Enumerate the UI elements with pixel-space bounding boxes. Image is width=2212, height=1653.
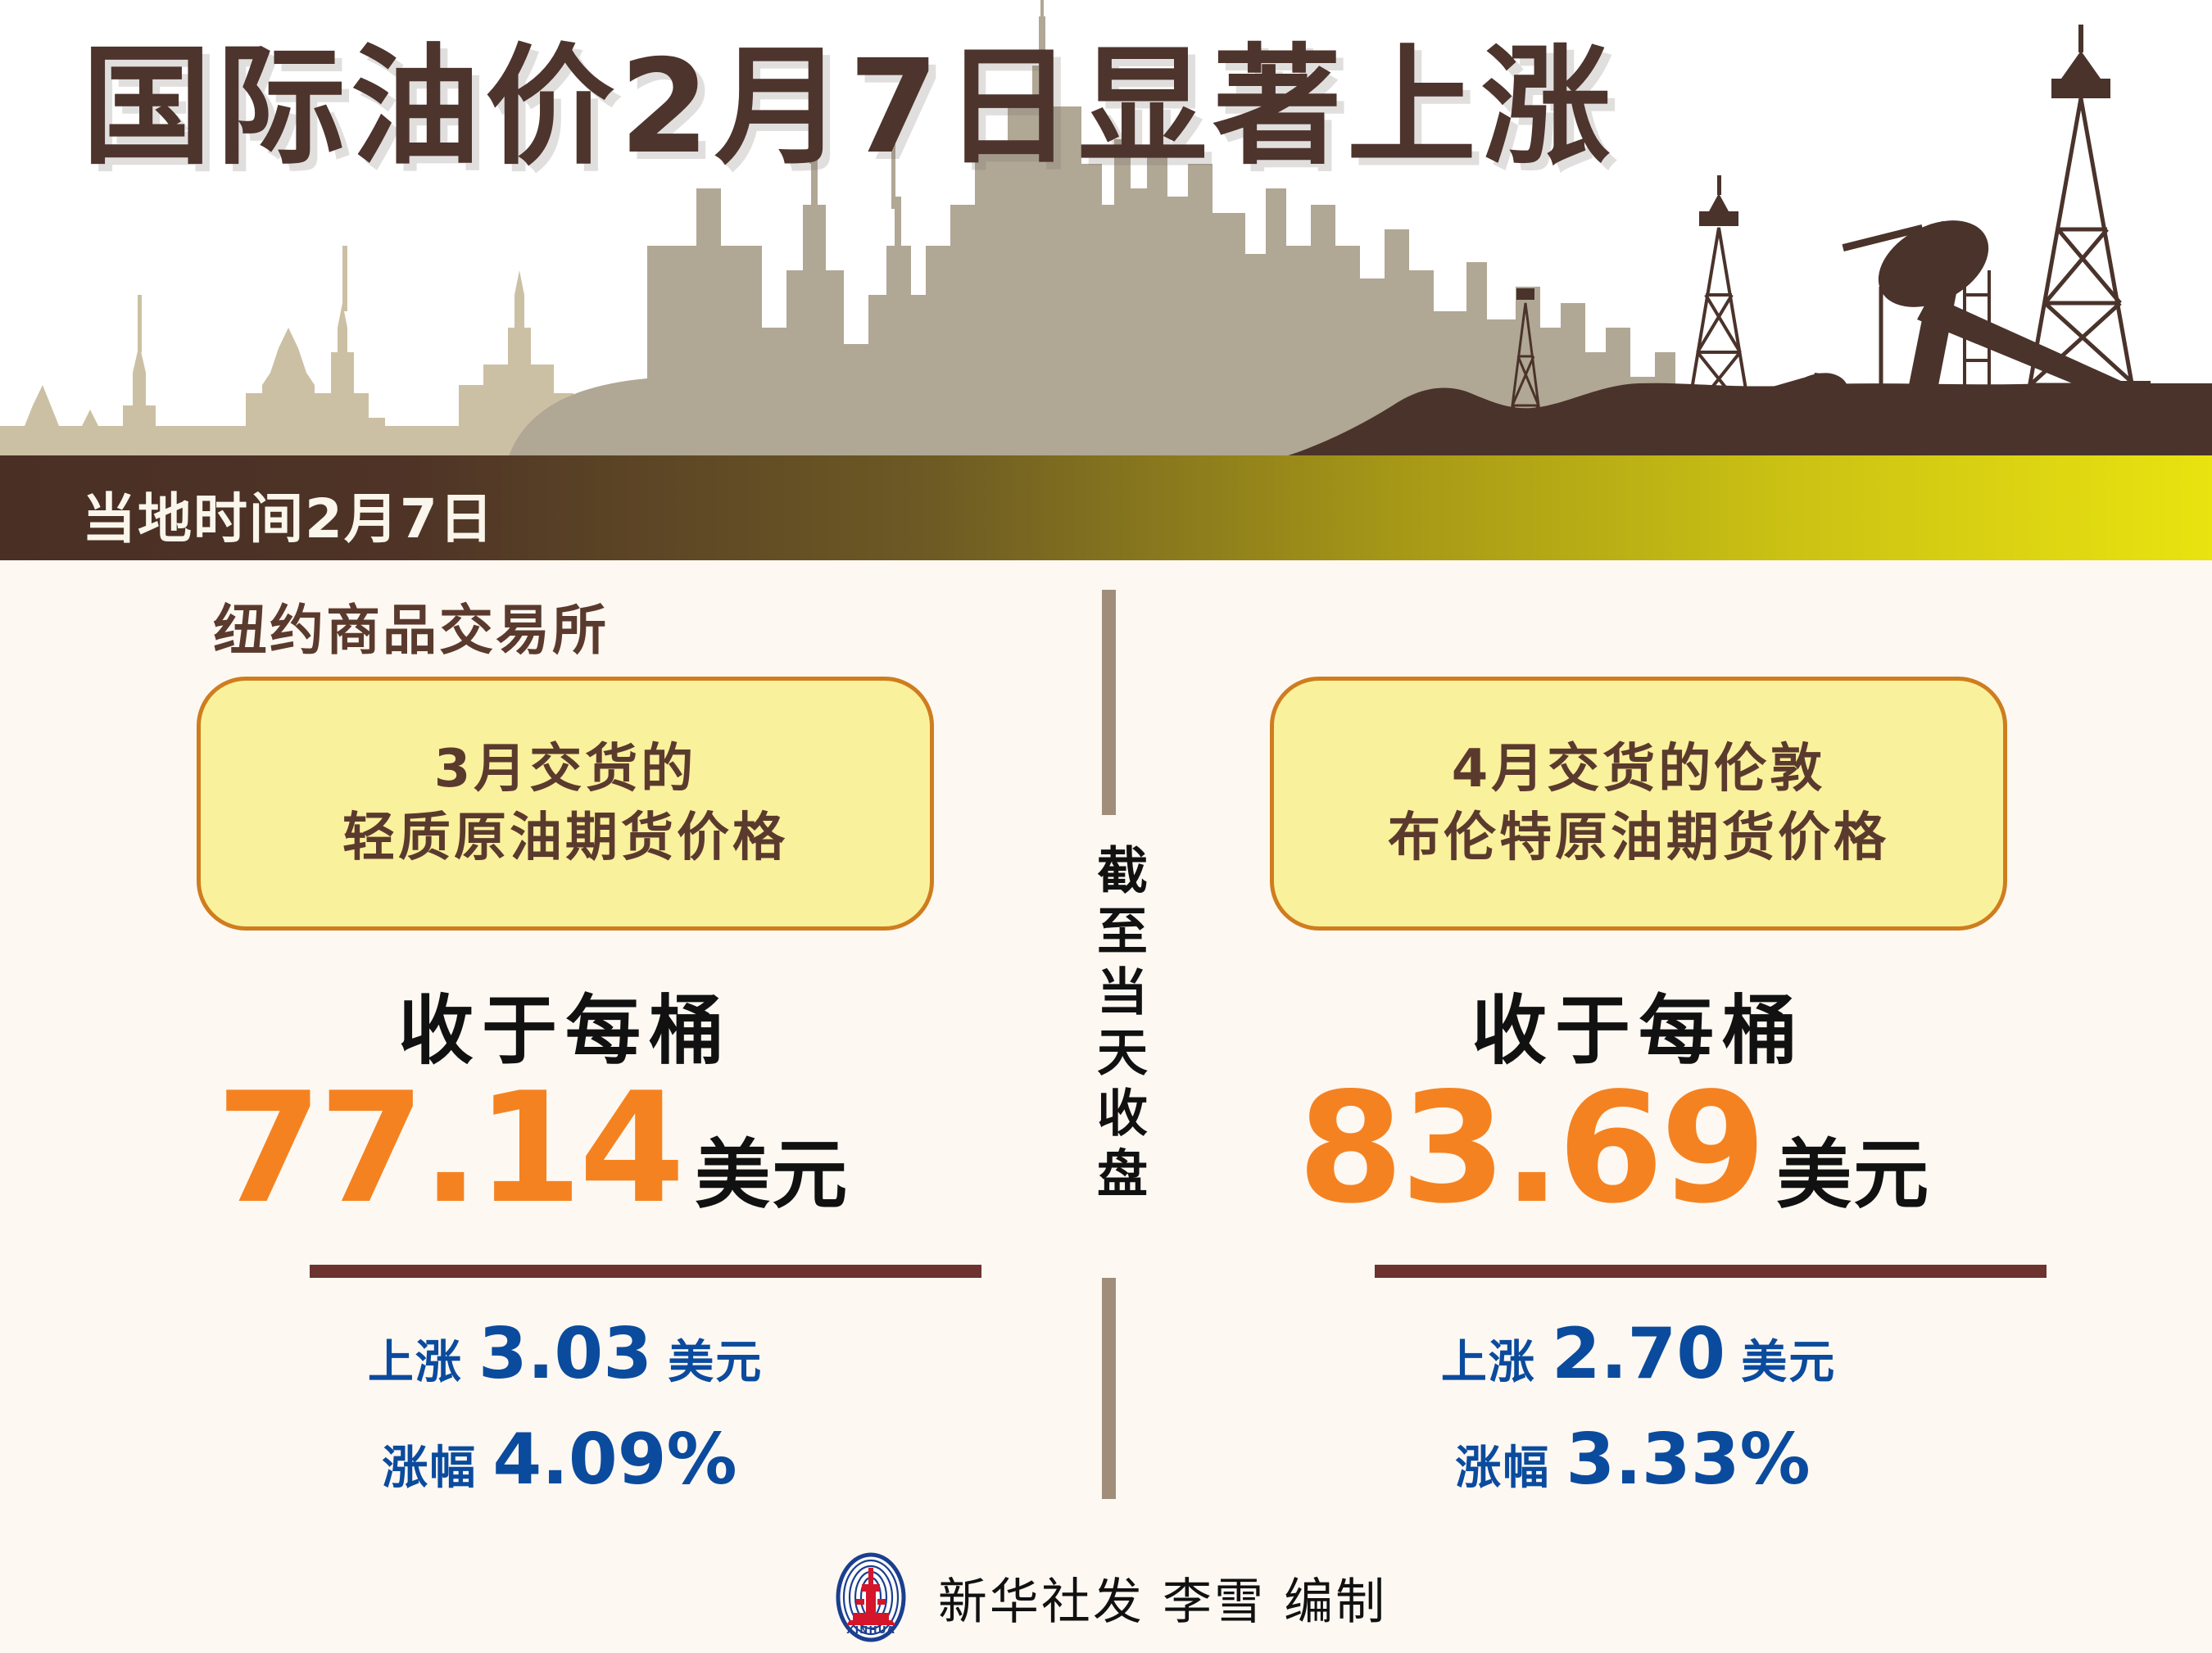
delta-percent-line-brent: 涨幅 3.33% — [1270, 1407, 2007, 1513]
panel-nymex: 纽约商品交易所 3月交货的 轻质原油期货价格 收于每桶 77.14 美元 上涨 … — [107, 560, 1073, 1494]
delta-value-wti: 3.03 — [478, 1313, 652, 1395]
price-unit-wti: 美元 — [695, 1114, 849, 1223]
xinhua-logo-icon: XINHUA — [825, 1551, 917, 1643]
credit-text: 新华社发 李雪 编制 — [938, 1562, 1387, 1633]
pct-value-wti: 4.09% — [492, 1419, 737, 1501]
contract-line-2: 轻质原油期货价格 — [342, 804, 788, 872]
date-label: 当地时间2月7日 — [82, 475, 495, 554]
footer-credit-bar: XINHUA 新华社发 李雪 编制 — [0, 1542, 2212, 1653]
divider-vertical-label: 截至当天收盘 — [1077, 844, 1143, 1207]
contract-line-2: 布伦特原油期货价格 — [1388, 804, 1889, 872]
contract-line-1: 4月交货的伦敦 — [1452, 735, 1826, 804]
pct-value-brent: 3.33% — [1566, 1419, 1810, 1501]
divider-segment-bottom — [1102, 1278, 1116, 1499]
delta-amount-line-brent: 上涨 2.70 美元 — [1270, 1302, 2007, 1407]
date-bar: 当地时间2月7日 — [0, 455, 2212, 560]
divider-segment-top — [1102, 590, 1116, 815]
delta-block-wti: 上涨 3.03 美元 涨幅 4.09% — [197, 1302, 934, 1513]
price-unit-brent: 美元 — [1776, 1114, 1930, 1223]
header-banner: 国际油价2月7日显著上涨 — [0, 0, 2212, 459]
contract-pill-brent: 4月交货的伦敦 布伦特原油期货价格 — [1270, 677, 2007, 931]
delta-unit-wti: 美元 — [668, 1336, 763, 1389]
delta-unit-brent: 美元 — [1741, 1336, 1836, 1389]
price-value-wti: 77.14 — [216, 1072, 682, 1225]
page-title: 国际油价2月7日显著上涨 — [82, 43, 1616, 172]
divider-rule-brent — [1375, 1265, 2047, 1278]
center-divider: 截至当天收盘 — [1102, 590, 1118, 1499]
infographic-root: 国际油价2月7日显著上涨 当地时间2月7日 纽约商品交易所 3月交货的 轻质原油… — [0, 0, 2212, 1653]
contract-pill-wti: 3月交货的 轻质原油期货价格 — [197, 677, 934, 931]
xinhua-logo-text: XINHUA — [846, 1624, 895, 1636]
price-row-brent: 83.69 美元 — [1245, 1072, 1983, 1225]
pct-label-brent: 涨幅 — [1455, 1442, 1550, 1495]
delta-amount-line-wti: 上涨 3.03 美元 — [197, 1302, 934, 1407]
contract-line-1: 3月交货的 — [434, 735, 697, 804]
delta-label-wti: 上涨 — [368, 1336, 463, 1389]
divider-rule-wti — [310, 1265, 981, 1278]
delta-percent-line-wti: 涨幅 4.09% — [197, 1407, 934, 1513]
delta-block-brent: 上涨 2.70 美元 涨幅 3.33% — [1270, 1302, 2007, 1513]
pct-label-wti: 涨幅 — [382, 1442, 477, 1495]
delta-value-brent: 2.70 — [1552, 1313, 1725, 1395]
price-row-wti: 77.14 美元 — [164, 1072, 901, 1225]
price-value-brent: 83.69 — [1298, 1072, 1763, 1225]
delta-label-brent: 上涨 — [1441, 1336, 1536, 1389]
panel-brent: 4月交货的伦敦 布伦特原油期货价格 收于每桶 83.69 美元 上涨 2.70 … — [1188, 560, 2155, 1494]
exchange-name-nymex: 纽约商品交易所 — [213, 586, 609, 665]
